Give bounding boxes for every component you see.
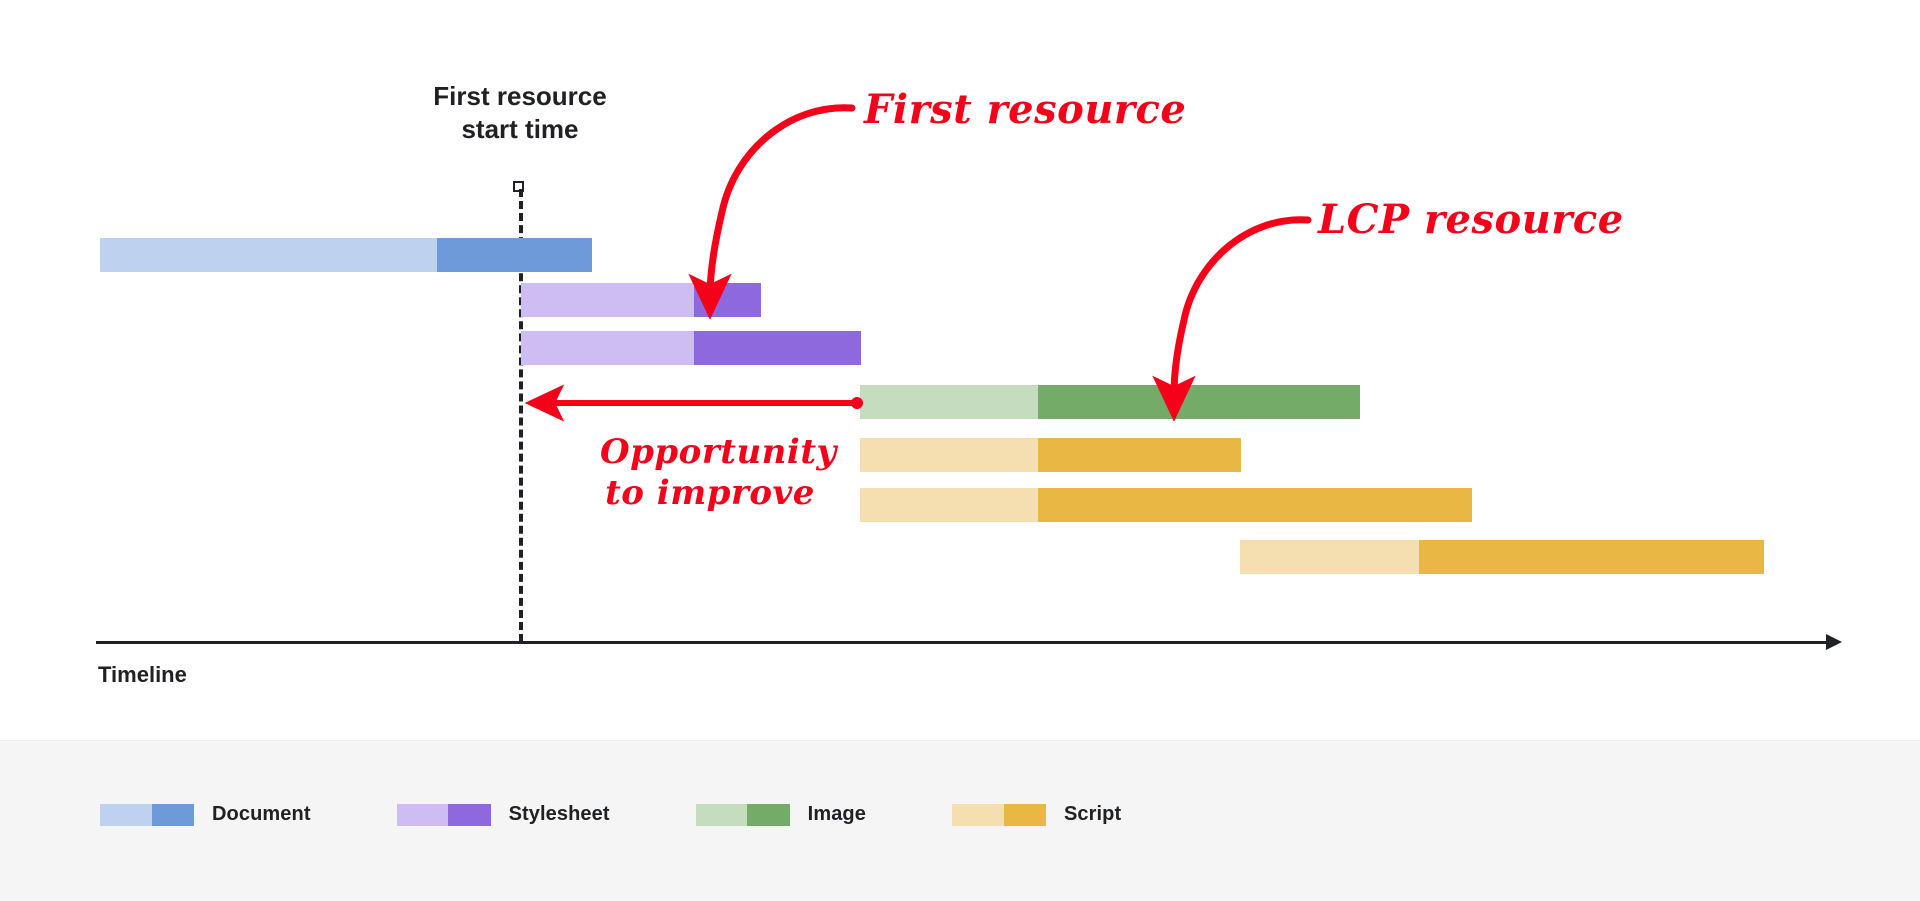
first-resource-arrow-icon [710,108,852,296]
first-resource-start-time-caption: First resource start time [360,80,680,147]
legend-label-stylesheet: Stylesheet [509,803,610,826]
legend-item-image[interactable]: Image [696,803,866,826]
legend-label-document: Document [212,803,311,826]
script-bar-2 [860,488,1472,522]
chart-plot-area: First resource start time Timeline First… [0,0,1920,740]
legend-swatch-light [952,804,1004,826]
stylesheet-bar-2-load-segment [694,331,861,365]
script-bar-3-load-segment [1419,540,1764,574]
stylesheet-bar-1 [521,283,761,317]
caption-line-2: start time [360,113,680,146]
legend-swatch-light [397,804,449,826]
annotation-lcp-resource-label: LCP resource [1318,196,1624,243]
legend-label-image: Image [808,803,866,826]
stylesheet-bar-2 [521,331,861,365]
document-bar-load-segment [437,238,592,272]
legend-label-script: Script [1064,803,1121,826]
script-bar-1-wait-segment [860,438,1038,472]
legend-swatch-image-icon [696,804,790,826]
legend-swatch-stylesheet-icon [397,804,491,826]
legend-swatch-light [100,804,152,826]
timeline-axis-line [96,641,1831,644]
script-bar-3-wait-segment [1240,540,1419,574]
legend-item-stylesheet[interactable]: Stylesheet [397,803,610,826]
caption-line-1: First resource [360,80,680,113]
script-bar-2-load-segment [1038,488,1472,522]
legend-swatch-dark [747,804,789,826]
legend-item-document[interactable]: Document [100,803,311,826]
script-bar-2-wait-segment [860,488,1038,522]
annotation-opportunity-line-2: to improve [600,473,820,514]
stylesheet-bar-1-wait-segment [521,283,694,317]
document-bar-wait-segment [100,238,437,272]
legend-swatch-dark [448,804,490,826]
stylesheet-bar-1-load-segment [694,283,761,317]
document-bar [100,238,592,272]
image-lcp-bar-load-segment [1038,385,1360,419]
lcp-resource-arrow-icon [1174,220,1308,398]
legend-items-row: DocumentStylesheetImageScript [100,803,1207,826]
legend-swatch-light [696,804,748,826]
legend-swatch-dark [1004,804,1046,826]
script-bar-1-load-segment [1038,438,1241,472]
annotation-opportunity-label: Opportunity to improve [600,432,820,514]
image-lcp-bar [860,385,1360,419]
legend-swatch-document-icon [100,804,194,826]
legend-swatch-script-icon [952,804,1046,826]
annotation-opportunity-line-1: Opportunity [600,432,820,473]
annotation-first-resource-label: First resource [864,86,1186,133]
legend-swatch-dark [152,804,194,826]
stylesheet-bar-2-wait-segment [521,331,694,365]
legend-item-script[interactable]: Script [952,803,1121,826]
diagram-canvas: First resource start time Timeline First… [0,0,1920,900]
script-bar-3 [1240,540,1764,574]
script-bar-1 [860,438,1241,472]
timeline-axis-label: Timeline [98,662,187,688]
timeline-axis-arrow-icon [1826,634,1842,650]
image-lcp-bar-wait-segment [860,385,1038,419]
legend-strip: DocumentStylesheetImageScript [0,740,1920,901]
